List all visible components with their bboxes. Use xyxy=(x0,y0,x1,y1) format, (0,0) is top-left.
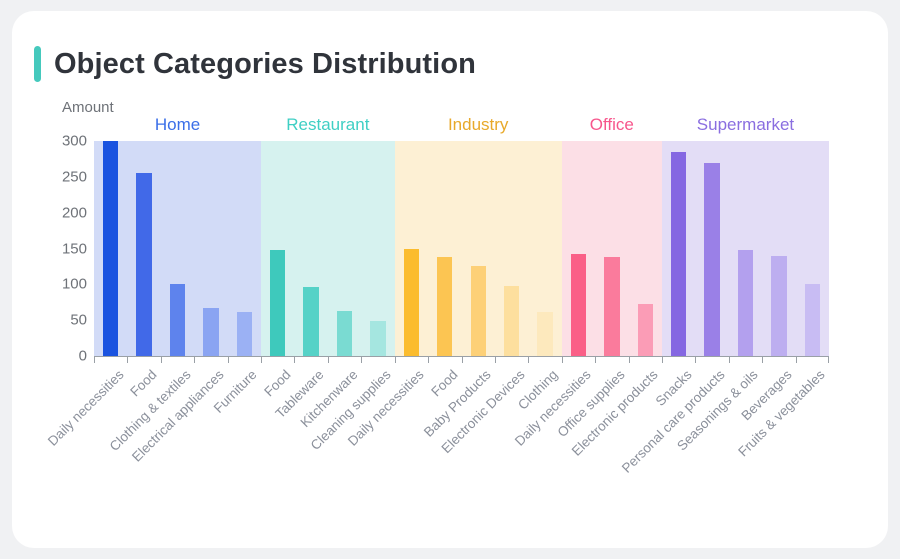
x-axis-tick xyxy=(328,356,329,363)
x-axis-tick xyxy=(762,356,763,363)
x-axis-tick xyxy=(729,356,730,363)
bar[interactable] xyxy=(537,312,552,356)
bar[interactable] xyxy=(270,250,285,356)
y-axis-tick-label: 0 xyxy=(79,348,87,365)
y-axis-tick-label: 250 xyxy=(62,168,87,185)
bar[interactable] xyxy=(437,257,452,356)
x-axis-tick xyxy=(395,356,396,363)
bar[interactable] xyxy=(303,287,318,356)
y-axis-tick-label: 150 xyxy=(62,240,87,257)
x-axis-tick xyxy=(595,356,596,363)
bar[interactable] xyxy=(704,163,719,357)
x-axis-tick xyxy=(629,356,630,363)
group-label-office: Office xyxy=(590,115,634,135)
x-axis-tick xyxy=(495,356,496,363)
group-label-supermarket: Supermarket xyxy=(697,115,794,135)
chart-header: Object Categories Distribution xyxy=(34,46,476,82)
bar[interactable] xyxy=(738,250,753,356)
group-label-industry: Industry xyxy=(448,115,508,135)
x-axis-tick xyxy=(294,356,295,363)
x-axis-tick xyxy=(161,356,162,363)
x-axis-tick xyxy=(361,356,362,363)
y-axis-tick-label: 50 xyxy=(70,312,87,329)
bar[interactable] xyxy=(136,173,151,356)
bar[interactable] xyxy=(370,321,385,356)
group-label-restaurant: Restaurant xyxy=(286,115,369,135)
x-axis-tick xyxy=(127,356,128,363)
bar[interactable] xyxy=(203,308,218,356)
y-axis-title: Amount xyxy=(62,99,114,116)
x-axis-tick xyxy=(662,356,663,363)
title-accent-bar xyxy=(34,46,41,82)
x-axis-line xyxy=(94,356,829,357)
chart-card: Object Categories Distribution Amount 05… xyxy=(12,11,888,548)
x-axis-tick xyxy=(695,356,696,363)
x-axis-tick xyxy=(528,356,529,363)
bar[interactable] xyxy=(237,312,252,356)
bar[interactable] xyxy=(170,284,185,356)
x-axis-tick xyxy=(261,356,262,363)
y-axis-tick-label: 300 xyxy=(62,133,87,150)
bar[interactable] xyxy=(337,311,352,356)
bar[interactable] xyxy=(571,254,586,356)
bar[interactable] xyxy=(504,286,519,356)
plot-area: 050100150200250300 xyxy=(94,141,829,356)
page-title: Object Categories Distribution xyxy=(54,48,476,81)
bar[interactable] xyxy=(471,266,486,356)
bar[interactable] xyxy=(604,257,619,356)
bar[interactable] xyxy=(805,284,820,356)
y-axis-tick-label: 200 xyxy=(62,204,87,221)
x-axis-tick xyxy=(796,356,797,363)
x-axis-tick xyxy=(828,356,829,363)
y-axis-tick-label: 100 xyxy=(62,276,87,293)
x-axis-tick xyxy=(194,356,195,363)
group-label-home: Home xyxy=(155,115,200,135)
bar[interactable] xyxy=(103,141,118,356)
x-axis-tick xyxy=(428,356,429,363)
x-axis-tick xyxy=(562,356,563,363)
bar[interactable] xyxy=(638,304,653,356)
bar[interactable] xyxy=(671,152,686,356)
x-axis-tick xyxy=(94,356,95,363)
bar[interactable] xyxy=(404,249,419,357)
x-axis-tick xyxy=(228,356,229,363)
x-axis-tick xyxy=(462,356,463,363)
bar[interactable] xyxy=(771,256,786,356)
